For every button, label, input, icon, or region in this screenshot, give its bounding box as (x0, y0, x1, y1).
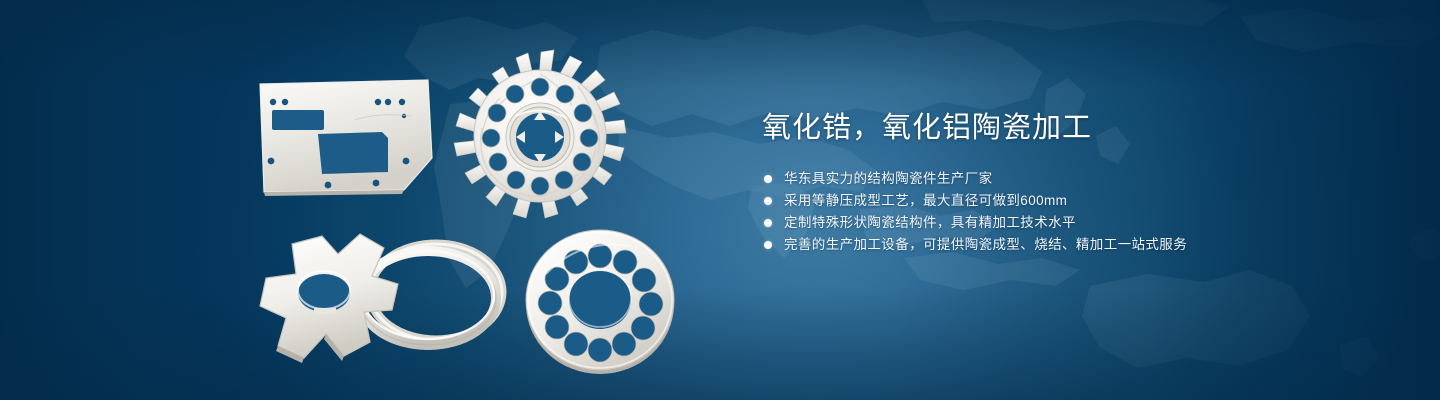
list-item-label: 完善的生产加工设备，可提供陶瓷成型、烧结、精加工一站式服务 (784, 237, 1187, 252)
bullet-dot-icon (764, 219, 772, 227)
bullet-dot-icon (764, 197, 772, 205)
list-item-label: 华东具实力的结构陶瓷件生产厂家 (784, 171, 993, 186)
list-item-label: 采用等静压成型工艺，最大直径可做到600mm (784, 193, 1067, 208)
list-item: 采用等静压成型工艺，最大直径可做到600mm (762, 190, 1382, 212)
bullet-dot-icon (764, 241, 772, 249)
page-title: 氧化锆，氧化铝陶瓷加工 (762, 108, 1382, 148)
banner-copy: 氧化锆，氧化铝陶瓷加工 华东具实力的结构陶瓷件生产厂家 采用等静压成型工艺，最大… (762, 108, 1382, 256)
list-item: 华东具实力的结构陶瓷件生产厂家 (762, 168, 1382, 190)
list-item: 完善的生产加工设备，可提供陶瓷成型、烧结、精加工一站式服务 (762, 234, 1382, 256)
hero-banner: 氧化锆，氧化铝陶瓷加工 华东具实力的结构陶瓷件生产厂家 采用等静压成型工艺，最大… (0, 0, 1440, 400)
feature-list: 华东具实力的结构陶瓷件生产厂家 采用等静压成型工艺，最大直径可做到600mm 定… (762, 168, 1382, 256)
list-item: 定制特殊形状陶瓷结构件，具有精加工技术水平 (762, 212, 1382, 234)
list-item-label: 定制特殊形状陶瓷结构件，具有精加工技术水平 (784, 215, 1076, 230)
bullet-dot-icon (764, 175, 772, 183)
